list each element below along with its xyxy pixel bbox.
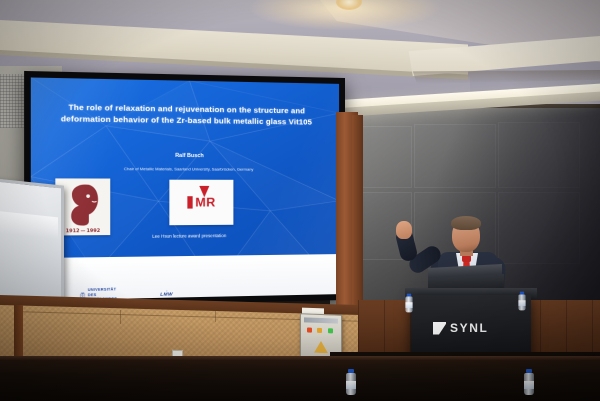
conference-photo: The role of relaxation and rejuvenation … — [0, 0, 600, 401]
bottle-label — [405, 302, 412, 308]
wood-column-right-inner — [352, 115, 363, 315]
slide-affiliation: Chair of Metallic Materials, Saarland Un… — [31, 166, 339, 172]
synl-logo: SYNL — [433, 321, 488, 335]
water-bottle[interactable] — [518, 292, 525, 311]
status-led-red — [307, 328, 312, 333]
presenter-hair — [451, 216, 481, 230]
water-bottle[interactable] — [346, 369, 356, 395]
water-bottle[interactable] — [405, 294, 412, 313]
status-led-green — [328, 328, 333, 333]
foreground-table-edge — [0, 356, 600, 360]
presenter-tie-knot — [462, 255, 471, 262]
bottle-label — [346, 381, 356, 389]
imr-bar-icon — [188, 196, 193, 208]
svg-text:—: — — [80, 229, 85, 234]
foreground-table — [0, 356, 600, 401]
status-led-amber — [317, 328, 322, 333]
wall-panel-seam — [120, 310, 121, 324]
bottle-label — [518, 300, 525, 306]
synl-triangle-mark-icon — [433, 322, 446, 335]
svg-text:1912: 1912 — [66, 228, 80, 234]
control-panel-display — [304, 317, 338, 323]
synl-logo-text: SYNL — [450, 321, 488, 335]
wall-panel-seam — [215, 308, 216, 322]
lmw-logo-text: LMW — [160, 291, 173, 296]
lmw-logo: LMW — [159, 290, 175, 296]
slide-footer-band: UNIVERSITÄT DES SAARLANDES LMW — [31, 254, 339, 300]
presentation-slide: The role of relaxation and rejuvenation … — [31, 77, 339, 300]
screen-display-area: The role of relaxation and rejuvenation … — [31, 77, 339, 300]
presenter-raised-hand — [396, 221, 412, 239]
imr-logo-text: MR — [195, 196, 215, 208]
slide-title: The role of relaxation and rejuvenation … — [50, 102, 321, 128]
svg-text:1992: 1992 — [86, 227, 100, 233]
warning-triangle-icon — [314, 341, 328, 353]
bottle-label — [524, 381, 534, 389]
imr-logo: MR — [169, 179, 233, 225]
projection-screen: The role of relaxation and rejuvenation … — [24, 71, 345, 307]
water-bottle[interactable] — [524, 369, 534, 395]
